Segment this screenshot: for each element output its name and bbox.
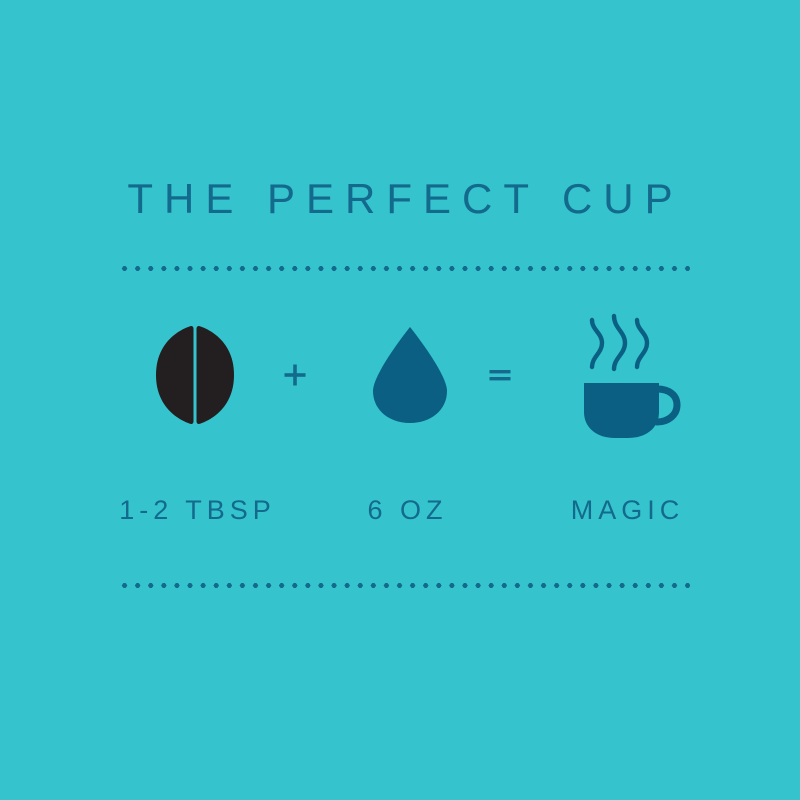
equation-row bbox=[0, 300, 800, 450]
equation-labels: 1-2 TBSP 6 OZ MAGIC bbox=[0, 492, 800, 528]
equals-icon bbox=[488, 367, 512, 383]
divider-top bbox=[118, 266, 690, 271]
label-coffee-bean: 1-2 TBSP bbox=[95, 492, 295, 528]
operator-equals bbox=[477, 300, 523, 450]
label-coffee-cup: MAGIC bbox=[545, 492, 705, 528]
label-water-drop: 6 OZ bbox=[330, 492, 480, 528]
perfect-cup-poster: THE PERFECT CUP bbox=[0, 0, 800, 800]
equation-item-coffee-bean bbox=[130, 300, 260, 450]
equation-item-coffee-cup bbox=[555, 300, 695, 450]
plus-icon bbox=[283, 363, 307, 387]
page-title: THE PERFECT CUP bbox=[0, 178, 800, 220]
equation-item-water-drop bbox=[355, 300, 465, 450]
divider-bottom bbox=[118, 583, 690, 588]
operator-plus bbox=[270, 300, 320, 450]
